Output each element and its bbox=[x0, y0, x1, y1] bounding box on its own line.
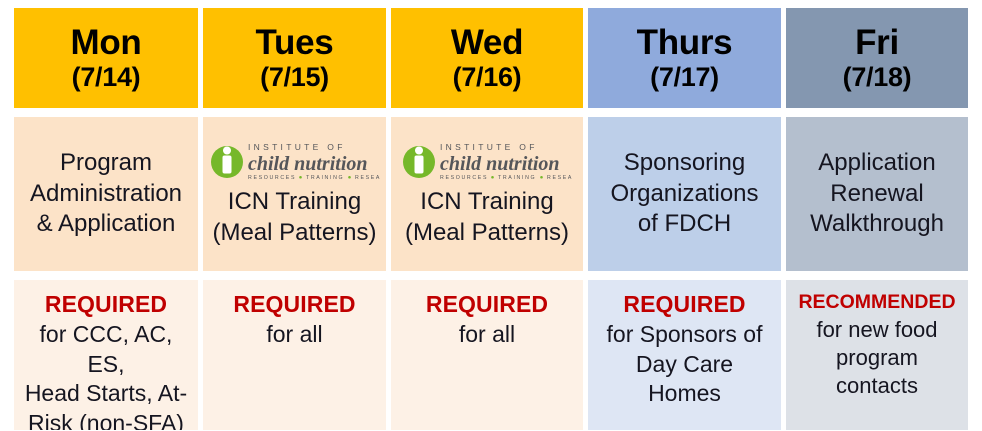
svg-text:INSTITUTE OF: INSTITUTE OF bbox=[248, 142, 346, 152]
status-badge: REQUIRED bbox=[233, 290, 355, 319]
header-date-tues: (7/15) bbox=[260, 63, 329, 92]
svg-text:TRAINING: TRAINING bbox=[306, 175, 344, 181]
topic-cell-mon: Program Administration & Application bbox=[14, 117, 198, 271]
svg-text:RESEARCH: RESEARCH bbox=[355, 175, 381, 181]
institute-of-child-nutrition-logo-icon: INSTITUTE OF child nutrition RESOURCES T… bbox=[209, 139, 381, 183]
audience-cell-thurs: REQUIRED for Sponsors of Day Care Homes bbox=[588, 280, 781, 430]
audience-line: for all bbox=[459, 320, 515, 349]
header-date-thurs: (7/17) bbox=[650, 63, 719, 92]
header-day-mon: Mon bbox=[70, 24, 141, 61]
audience-cell-mon: REQUIRED for CCC, AC, ES, Head Starts, A… bbox=[14, 280, 198, 430]
header-cell-thurs: Thurs (7/17) bbox=[588, 8, 781, 108]
audience-line: for CCC, AC, ES, bbox=[20, 320, 192, 379]
svg-text:RESOURCES: RESOURCES bbox=[248, 175, 296, 181]
topic-line: Organizations bbox=[610, 179, 758, 210]
header-cell-mon: Mon (7/14) bbox=[14, 8, 198, 108]
status-badge: REQUIRED bbox=[623, 290, 745, 319]
header-day-wed: Wed bbox=[451, 24, 523, 61]
header-cell-tues: Tues (7/15) bbox=[203, 8, 386, 108]
audience-line: program bbox=[836, 344, 918, 372]
audience-line: Head Starts, At- bbox=[25, 379, 187, 408]
header-day-tues: Tues bbox=[256, 24, 334, 61]
audience-line: Day Care bbox=[636, 350, 733, 379]
topic-line: Sponsoring bbox=[624, 148, 745, 179]
audience-cell-wed: REQUIRED for all bbox=[391, 280, 583, 430]
topic-line: & Application bbox=[37, 209, 176, 240]
topic-cell-tues: INSTITUTE OF child nutrition RESOURCES T… bbox=[203, 117, 386, 271]
svg-text:RESOURCES: RESOURCES bbox=[440, 175, 488, 181]
svg-text:RESEARCH: RESEARCH bbox=[547, 175, 573, 181]
status-badge: REQUIRED bbox=[426, 290, 548, 319]
topic-line: Program bbox=[60, 148, 152, 179]
header-day-thurs: Thurs bbox=[637, 24, 733, 61]
topic-line: Administration bbox=[30, 179, 182, 210]
audience-line: for new food bbox=[816, 316, 937, 344]
audience-line: contacts bbox=[836, 372, 918, 400]
svg-text:child nutrition: child nutrition bbox=[248, 153, 368, 175]
topic-line: (Meal Patterns) bbox=[405, 218, 569, 249]
header-date-mon: (7/14) bbox=[72, 63, 141, 92]
svg-text:INSTITUTE OF: INSTITUTE OF bbox=[440, 142, 538, 152]
training-schedule-table: Mon (7/14) Tues (7/15) Wed (7/16) Thurs … bbox=[0, 0, 982, 431]
institute-of-child-nutrition-logo-icon: INSTITUTE OF child nutrition RESOURCES T… bbox=[401, 139, 573, 183]
header-date-wed: (7/16) bbox=[453, 63, 522, 92]
header-date-fri: (7/18) bbox=[843, 63, 912, 92]
topic-line: of FDCH bbox=[638, 209, 731, 240]
audience-line: for Sponsors of bbox=[607, 320, 763, 349]
status-badge: REQUIRED bbox=[45, 290, 167, 319]
topic-line: Walkthrough bbox=[810, 209, 944, 240]
topic-cell-fri: Application Renewal Walkthrough bbox=[786, 117, 968, 271]
topic-line: Renewal bbox=[830, 179, 923, 210]
topic-line: ICN Training bbox=[420, 187, 553, 218]
topic-line: ICN Training bbox=[228, 187, 361, 218]
header-cell-fri: Fri (7/18) bbox=[786, 8, 968, 108]
header-day-fri: Fri bbox=[855, 24, 899, 61]
audience-line: for all bbox=[266, 320, 322, 349]
topic-line: Application bbox=[818, 148, 935, 179]
header-cell-wed: Wed (7/16) bbox=[391, 8, 583, 108]
svg-text:TRAINING: TRAINING bbox=[498, 175, 536, 181]
audience-line: Risk (non-SFA) bbox=[28, 409, 184, 430]
audience-cell-fri: RECOMMENDED for new food program contact… bbox=[786, 280, 968, 430]
status-badge: RECOMMENDED bbox=[798, 290, 955, 315]
audience-cell-tues: REQUIRED for all bbox=[203, 280, 386, 430]
svg-text:child nutrition: child nutrition bbox=[440, 153, 560, 175]
audience-line: Homes bbox=[648, 379, 721, 408]
topic-cell-thurs: Sponsoring Organizations of FDCH bbox=[588, 117, 781, 271]
topic-line: (Meal Patterns) bbox=[212, 218, 376, 249]
topic-cell-wed: INSTITUTE OF child nutrition RESOURCES T… bbox=[391, 117, 583, 271]
